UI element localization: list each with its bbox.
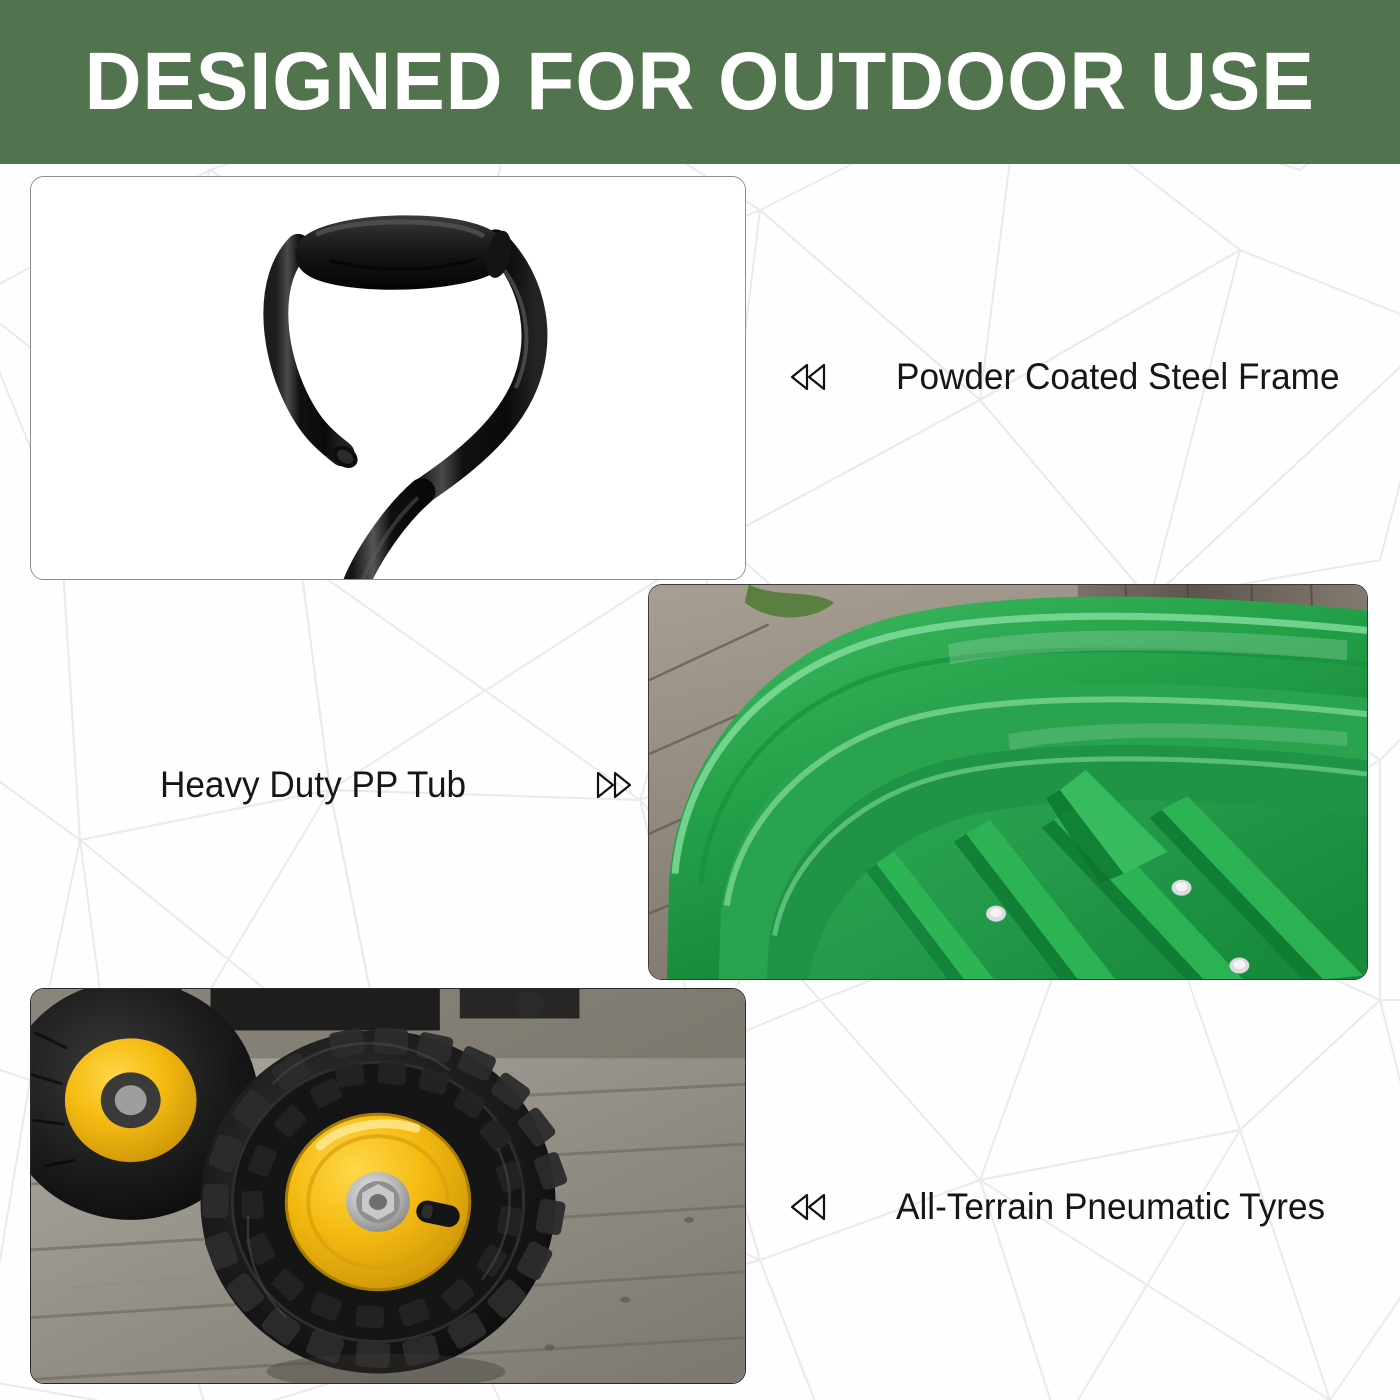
- tyres-photo: [31, 989, 745, 1383]
- header-banner: DESIGNED FOR OUTDOOR USE: [0, 0, 1400, 164]
- feature-label-text: Heavy Duty PP Tub: [160, 766, 466, 803]
- page-title: DESIGNED FOR OUTDOOR USE: [85, 41, 1315, 123]
- double-chevron-left-icon: [790, 1192, 828, 1222]
- feature-label-all-terrain-pneumatic-tyres: All-Terrain Pneumatic Tyres: [790, 1188, 1348, 1225]
- feature-label-text: Powder Coated Steel Frame: [896, 358, 1340, 395]
- photo-card-handle: [30, 176, 746, 580]
- feature-label-text: All-Terrain Pneumatic Tyres: [896, 1188, 1325, 1225]
- infographic-page: DESIGNED FOR OUTDOOR USE: [0, 0, 1400, 1400]
- feature-label-powder-coated-steel-frame: Powder Coated Steel Frame: [790, 358, 1363, 395]
- handle-photo: [31, 177, 745, 579]
- photo-card-tub: [648, 584, 1368, 980]
- photo-card-tyres: [30, 988, 746, 1384]
- double-chevron-right-icon: [594, 770, 632, 800]
- tub-photo: [649, 585, 1367, 979]
- feature-label-heavy-duty-pp-tub: Heavy Duty PP Tub: [160, 766, 632, 803]
- double-chevron-left-icon: [790, 362, 828, 392]
